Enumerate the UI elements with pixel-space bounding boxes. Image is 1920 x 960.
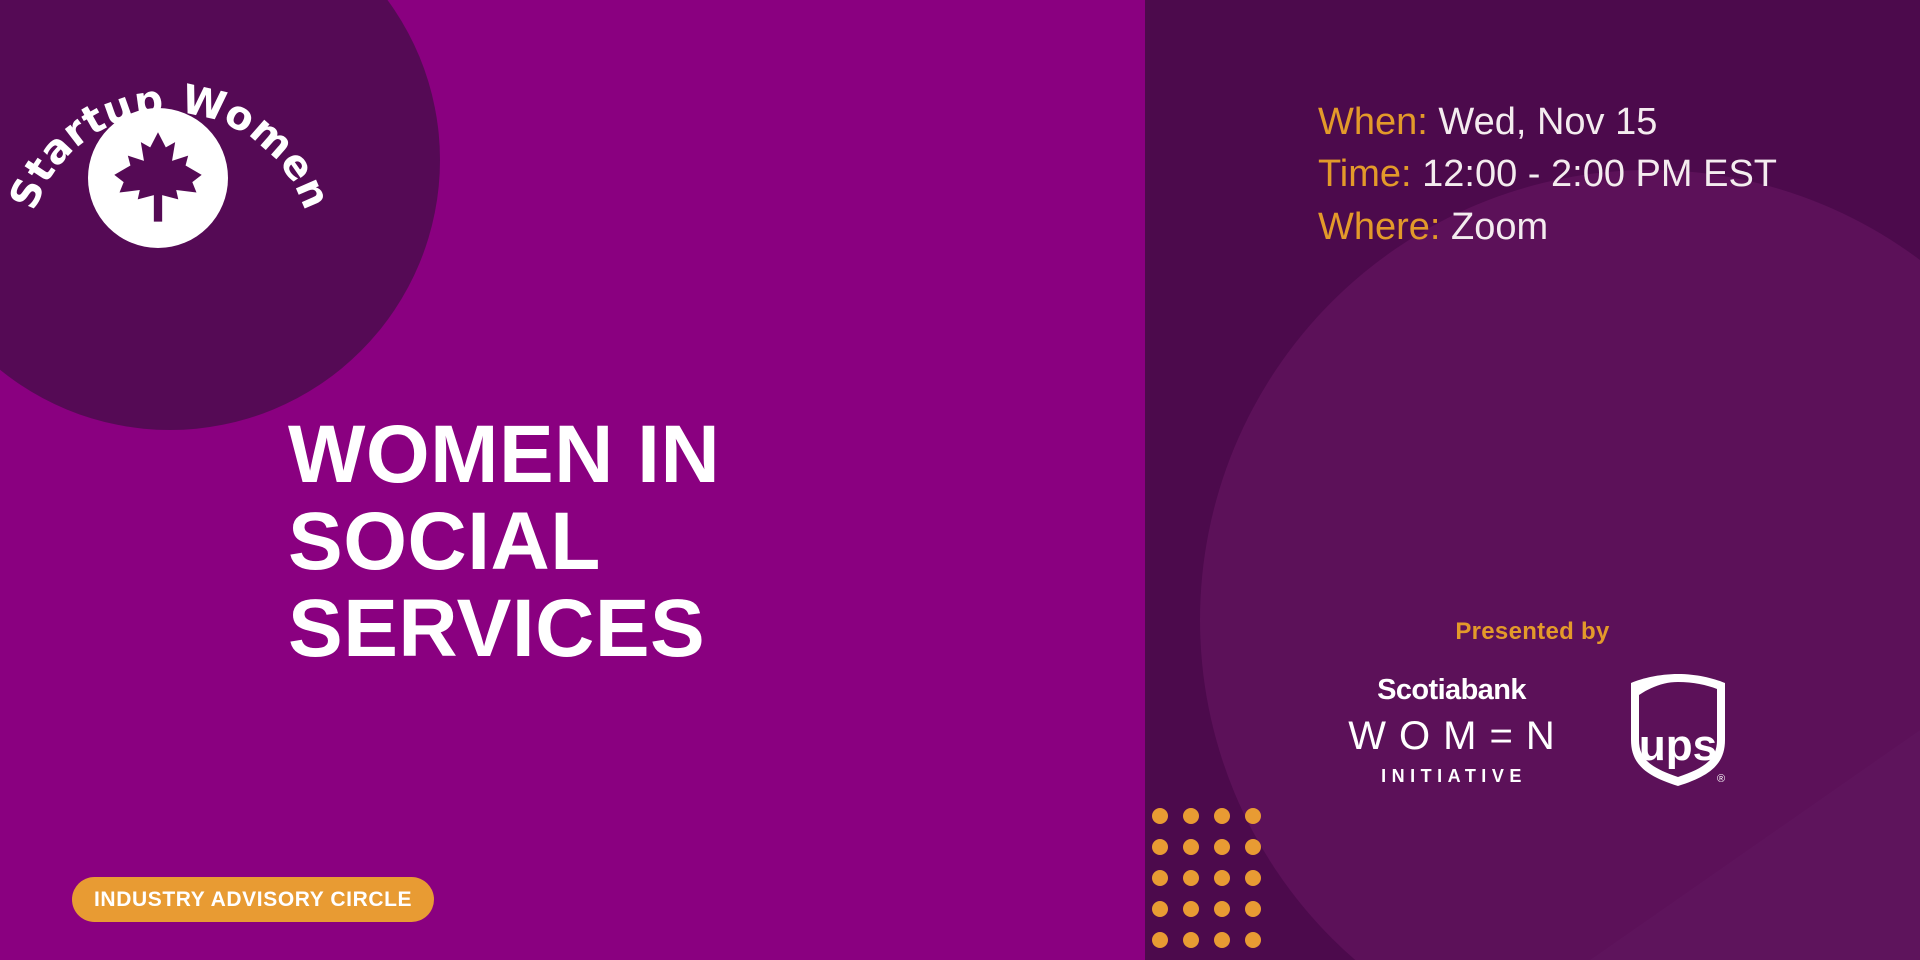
grid-dot bbox=[1183, 901, 1199, 917]
scotiabank-wordmark: Scotiabank bbox=[1335, 676, 1567, 705]
grid-dot bbox=[1245, 808, 1261, 824]
status-badge: INDUSTRY ADVISORY CIRCLE bbox=[72, 877, 434, 922]
women-wordmark: WOM=N bbox=[1335, 716, 1567, 756]
event-banner: Startup Women WOMEN IN SOCIAL SERVICES I… bbox=[0, 0, 1920, 960]
detail-row-time: Time: 12:00 - 2:00 PM EST bbox=[1318, 148, 1777, 200]
grid-dot bbox=[1214, 901, 1230, 917]
presented-by-label: Presented by bbox=[1145, 618, 1920, 646]
grid-dot bbox=[1152, 870, 1168, 886]
event-details: When: Wed, Nov 15 Time: 12:00 - 2:00 PM … bbox=[1318, 96, 1777, 253]
ups-trademark-symbol: ® bbox=[1717, 773, 1725, 785]
decorative-dot-grid bbox=[1152, 808, 1261, 948]
detail-value-when: Wed, Nov 15 bbox=[1438, 101, 1657, 143]
left-panel: Startup Women WOMEN IN SOCIAL SERVICES I… bbox=[0, 0, 1145, 960]
detail-value-where: Zoom bbox=[1451, 206, 1548, 248]
maple-leaf-emblem bbox=[88, 108, 228, 248]
grid-dot bbox=[1152, 808, 1168, 824]
grid-dot bbox=[1152, 901, 1168, 917]
ups-wordmark: ups bbox=[1639, 721, 1717, 770]
grid-dot bbox=[1214, 932, 1230, 948]
detail-label-when: When: bbox=[1318, 101, 1428, 143]
ups-logo: ups ® bbox=[1626, 672, 1730, 788]
scotiabank-women-initiative-logo: Scotiabank WOM=N INITIATIVE bbox=[1335, 676, 1567, 785]
ups-shield-icon: ups ® bbox=[1626, 672, 1730, 788]
initiative-wordmark: INITIATIVE bbox=[1335, 767, 1567, 785]
detail-value-time: 12:00 - 2:00 PM EST bbox=[1422, 153, 1777, 195]
badge-label: INDUSTRY ADVISORY CIRCLE bbox=[94, 888, 412, 912]
grid-dot bbox=[1245, 901, 1261, 917]
detail-label-time: Time: bbox=[1318, 153, 1412, 195]
grid-dot bbox=[1152, 932, 1168, 948]
headline-line-1: WOMEN IN bbox=[288, 412, 1068, 499]
headline-line-3: SERVICES bbox=[288, 586, 1068, 673]
grid-dot bbox=[1152, 839, 1168, 855]
grid-dot bbox=[1183, 808, 1199, 824]
page-title: WOMEN IN SOCIAL SERVICES bbox=[288, 412, 1068, 673]
grid-dot bbox=[1214, 808, 1230, 824]
detail-row-when: When: Wed, Nov 15 bbox=[1318, 96, 1777, 148]
startup-women-logo: Startup Women bbox=[20, 18, 320, 318]
grid-dot bbox=[1214, 870, 1230, 886]
detail-row-where: Where: Zoom bbox=[1318, 201, 1777, 253]
grid-dot bbox=[1183, 870, 1199, 886]
maple-leaf-icon bbox=[106, 126, 210, 230]
grid-dot bbox=[1214, 839, 1230, 855]
grid-dot bbox=[1245, 839, 1261, 855]
grid-dot bbox=[1183, 839, 1199, 855]
grid-dot bbox=[1183, 932, 1199, 948]
grid-dot bbox=[1245, 932, 1261, 948]
sponsor-logos: Scotiabank WOM=N INITIATIVE ups ® bbox=[1145, 672, 1920, 788]
detail-label-where: Where: bbox=[1318, 206, 1440, 248]
headline-line-2: SOCIAL bbox=[288, 499, 1068, 586]
grid-dot bbox=[1245, 870, 1261, 886]
